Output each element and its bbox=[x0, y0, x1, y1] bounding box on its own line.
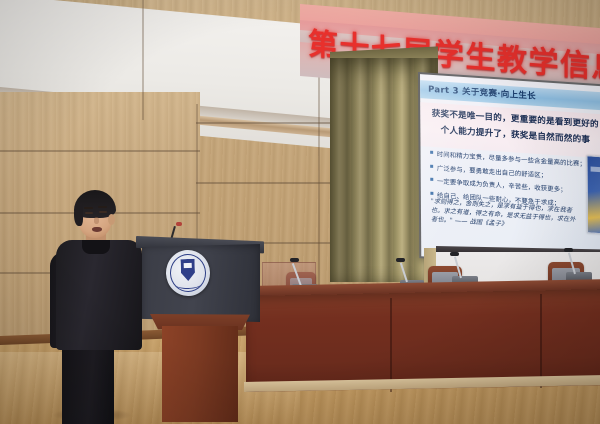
podium-base-column bbox=[162, 326, 238, 422]
projection-screen: Part 3 关于竞赛·向上生长 获奖不是唯一目的，更重要的是看到更好的 个人能… bbox=[420, 74, 600, 269]
microphone-head-icon bbox=[396, 258, 405, 262]
bullet-dot-icon: ▪ bbox=[430, 176, 434, 184]
speaker-nose bbox=[94, 217, 99, 224]
microphone-head-icon bbox=[450, 252, 459, 256]
speaker-hair-sideburn bbox=[74, 204, 83, 226]
speaker-eyebrow-left bbox=[84, 207, 93, 209]
table-panel-seam bbox=[540, 294, 542, 388]
slide-quote-source: —— 战国《孟子》 bbox=[455, 217, 507, 227]
bullet-dot-icon: ▪ bbox=[430, 162, 434, 170]
speaker-legs bbox=[62, 344, 114, 424]
microphone-head-icon bbox=[290, 258, 299, 262]
speaker-eye-right bbox=[99, 211, 107, 213]
speaker-eyebrow-right bbox=[98, 206, 107, 208]
curtain-shadow bbox=[330, 58, 388, 282]
speaker-ear bbox=[108, 214, 115, 225]
projection-screen-frame: Part 3 关于竞赛·向上生长 获奖不是唯一目的，更重要的是看到更好的 个人能… bbox=[418, 72, 600, 271]
award-certificate-thumbnail bbox=[586, 155, 600, 235]
podium-microphone-head-icon bbox=[176, 222, 182, 226]
speaker-mouth bbox=[92, 227, 102, 232]
table-panel-seam bbox=[390, 298, 392, 392]
speaker-torso bbox=[56, 240, 142, 350]
wall-plank-seam bbox=[0, 150, 200, 152]
speaker-eye-left bbox=[85, 212, 93, 214]
conference-photo-scene: 第十七届学生教学信息员聘 Part 3 关于竞赛·向上生长 获奖不是唯一目的，更… bbox=[0, 0, 600, 424]
microphone-head-icon bbox=[564, 248, 573, 252]
wall-vertical-seam bbox=[318, 60, 320, 290]
wall-vertical-seam bbox=[142, 0, 144, 120]
speaker-collar bbox=[82, 240, 110, 254]
wall-plank-seam bbox=[196, 182, 346, 184]
bullet-dot-icon: ▪ bbox=[430, 149, 434, 157]
